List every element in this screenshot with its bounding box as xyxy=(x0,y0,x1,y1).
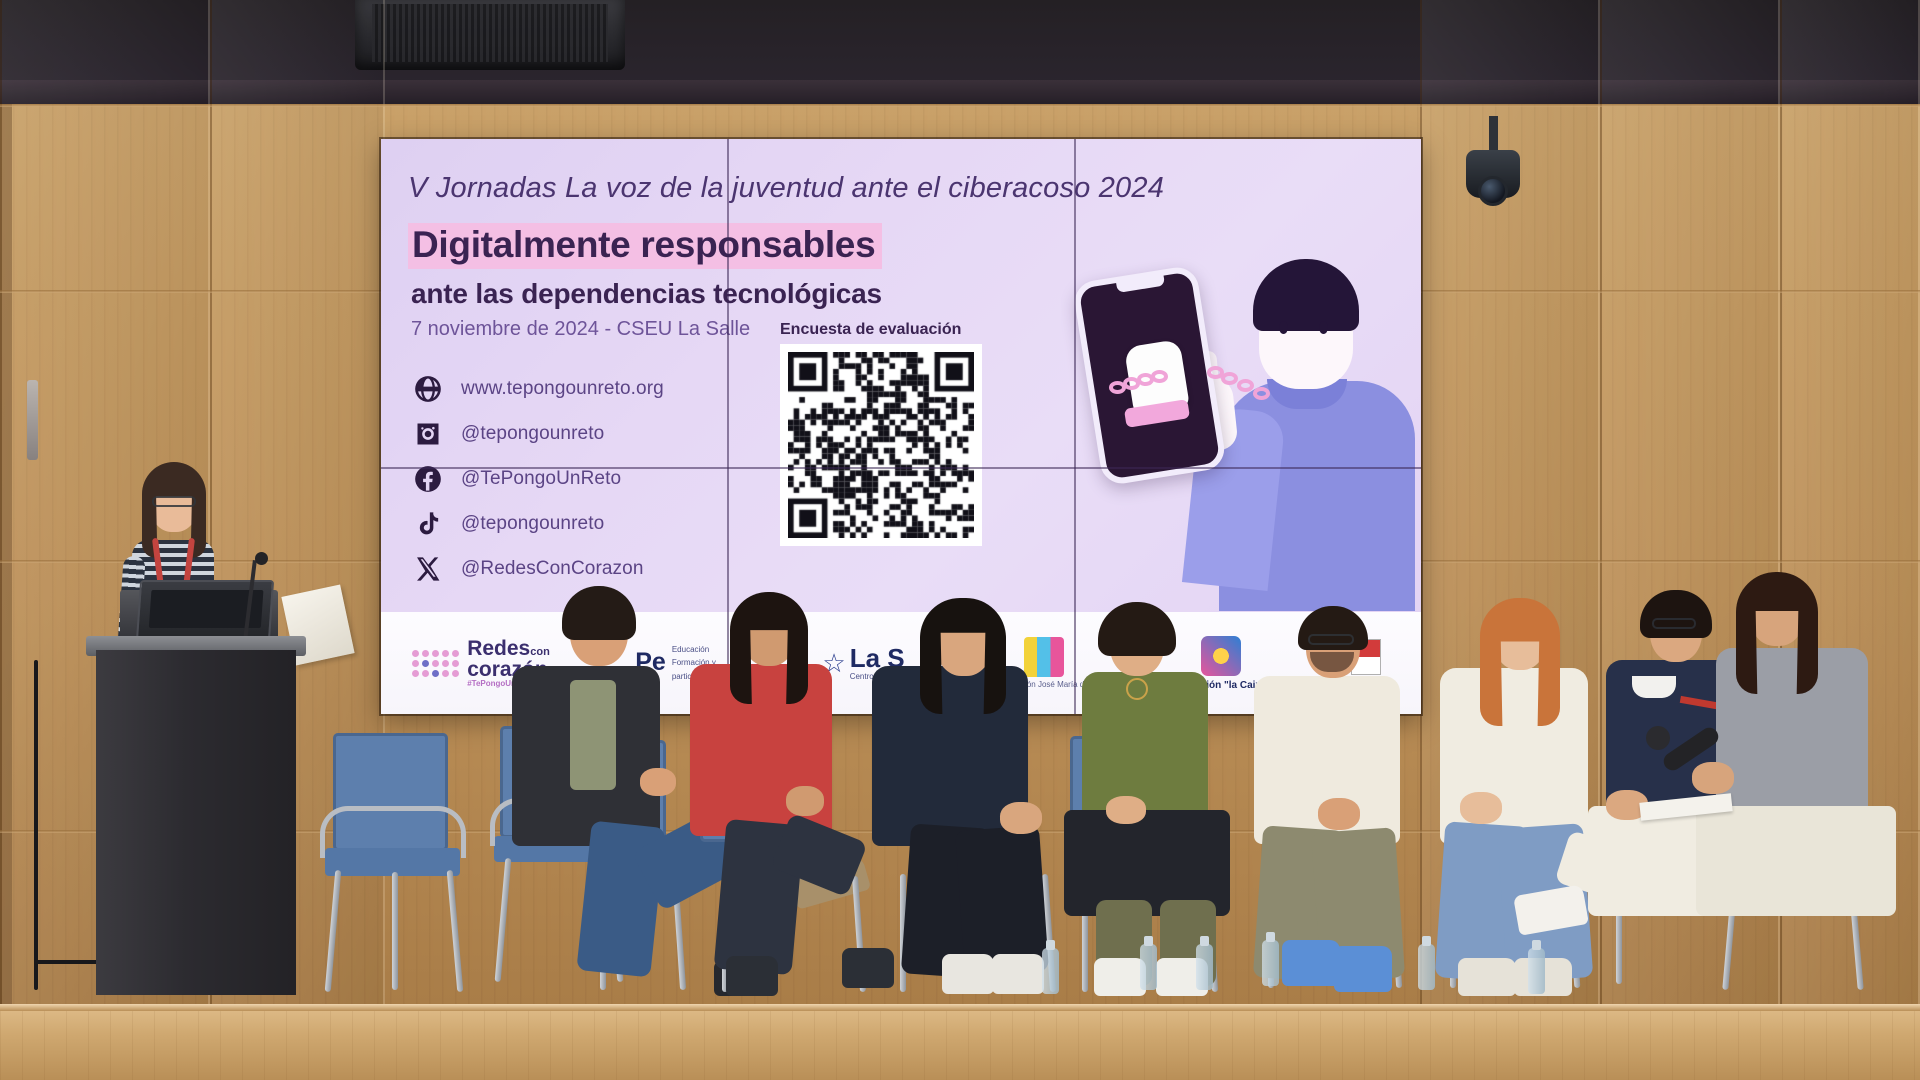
panelist-shirt xyxy=(570,680,616,790)
eyeglasses-icon xyxy=(1652,618,1696,629)
eyeglasses-icon xyxy=(152,496,196,507)
stage-edge xyxy=(0,1004,1920,1011)
camera-lens-icon xyxy=(1478,176,1508,206)
person-hair xyxy=(1253,259,1359,331)
instagram-icon xyxy=(411,417,445,451)
sponsor-line2: Educación xyxy=(672,643,717,657)
qr-canvas xyxy=(788,352,974,538)
wall-seam xyxy=(0,104,1920,107)
slide-date-line: 7 noviembre de 2024 - CSEU La Salle xyxy=(411,318,750,341)
panelist-shoe xyxy=(942,954,994,994)
panelist-shoe xyxy=(726,956,778,996)
panelist-hand xyxy=(1692,762,1734,794)
wall-panel xyxy=(1780,0,1920,1080)
water-bottle xyxy=(1140,944,1157,990)
phone-notch xyxy=(1116,275,1165,293)
sponsor-line1-small: con xyxy=(530,646,550,658)
panelist-shoe xyxy=(992,954,1044,994)
lectern-body xyxy=(96,650,296,995)
water-bottle xyxy=(1196,944,1213,990)
chain-link-icon xyxy=(1221,372,1238,385)
redes-dots-icon xyxy=(412,650,459,677)
panelist-hand xyxy=(1106,796,1146,824)
social-handle: @RedesConCorazon xyxy=(461,558,643,580)
polo-collar xyxy=(1632,676,1676,698)
panelist-shoe xyxy=(1334,946,1392,992)
panelist-skirt xyxy=(1696,806,1896,916)
stage-floor-grain xyxy=(0,1011,1920,1080)
social-handle: @tepongounreto xyxy=(461,513,604,535)
person-eye xyxy=(1319,321,1328,334)
social-handle: www.tepongounreto.org xyxy=(461,378,664,400)
microphone-head-icon xyxy=(1646,726,1670,750)
x-twitter-icon xyxy=(411,552,445,586)
panelist-hand xyxy=(786,786,824,816)
qr-code-survey xyxy=(780,344,982,546)
chair-leg xyxy=(392,872,398,990)
presentation-video-wall: V Jornadas La voz de la juventud ante el… xyxy=(381,139,1421,714)
videowall-seam xyxy=(1074,139,1076,714)
social-row-x: @RedesConCorazon xyxy=(411,546,664,591)
microphone-icon xyxy=(255,552,268,565)
water-bottle xyxy=(1418,944,1435,990)
chair-arm xyxy=(320,806,466,858)
tiktok-icon xyxy=(411,507,445,541)
qr-survey-label: Encuesta de evaluación xyxy=(780,321,961,339)
social-handle: @tepongounreto xyxy=(461,423,604,445)
social-row-tiktok: @tepongounreto xyxy=(411,501,664,546)
panelist-hand xyxy=(1318,798,1360,830)
eyeglasses-icon xyxy=(1308,634,1354,645)
slide-illustration xyxy=(1061,231,1421,611)
panelist-hand xyxy=(1460,792,1502,824)
videowall-seam xyxy=(727,139,729,714)
social-row-website: www.tepongounreto.org xyxy=(411,366,664,411)
panelist-hand xyxy=(1000,802,1042,834)
panelist-shoe xyxy=(1458,958,1516,996)
person-eye xyxy=(1279,321,1288,334)
social-handle: @TePongoUnReto xyxy=(461,468,621,490)
conference-photo-scene: V Jornadas La voz de la juventud ante el… xyxy=(0,0,1920,1080)
panelist-shoe xyxy=(842,948,894,988)
lectern-laptop xyxy=(136,580,274,642)
social-row-instagram: @tepongounreto xyxy=(411,411,664,456)
speaker-grill-icon xyxy=(372,4,608,62)
globe-icon xyxy=(411,372,445,406)
slide-social-list: www.tepongounreto.org @tepongounreto @Te… xyxy=(411,366,664,591)
wall-lamp xyxy=(27,380,38,460)
necklace-icon xyxy=(1126,678,1148,700)
la-caixa-star-icon xyxy=(1201,636,1241,676)
slide-subheadline: ante las dependencias tecnológicas xyxy=(411,278,882,310)
slide-headline-wrap: Digitalmente responsables xyxy=(408,223,882,269)
chain-link-icon xyxy=(1237,379,1254,392)
wall-panel xyxy=(1600,0,1780,1080)
fundacion-jm-mark-icon xyxy=(1024,637,1064,677)
water-bottle xyxy=(1528,948,1545,994)
videowall-seam xyxy=(381,467,1421,469)
floor-cable xyxy=(34,660,38,990)
water-bottle xyxy=(1262,940,1279,986)
sponsor-line1: Redes xyxy=(467,637,530,660)
slide-eyebrow-title: V Jornadas La voz de la juventud ante el… xyxy=(408,172,1358,205)
chain-link-icon xyxy=(1253,387,1270,400)
panelist-hand xyxy=(640,768,676,796)
panelist-shoe xyxy=(1094,958,1146,996)
chain-link-icon xyxy=(1151,370,1168,383)
illustration-person xyxy=(1197,259,1421,611)
panelist-shoe xyxy=(1282,940,1340,986)
social-row-facebook: @TePongoUnReto xyxy=(411,456,664,501)
water-bottle xyxy=(1042,948,1059,994)
slide-headline: Digitalmente responsables xyxy=(408,223,882,269)
